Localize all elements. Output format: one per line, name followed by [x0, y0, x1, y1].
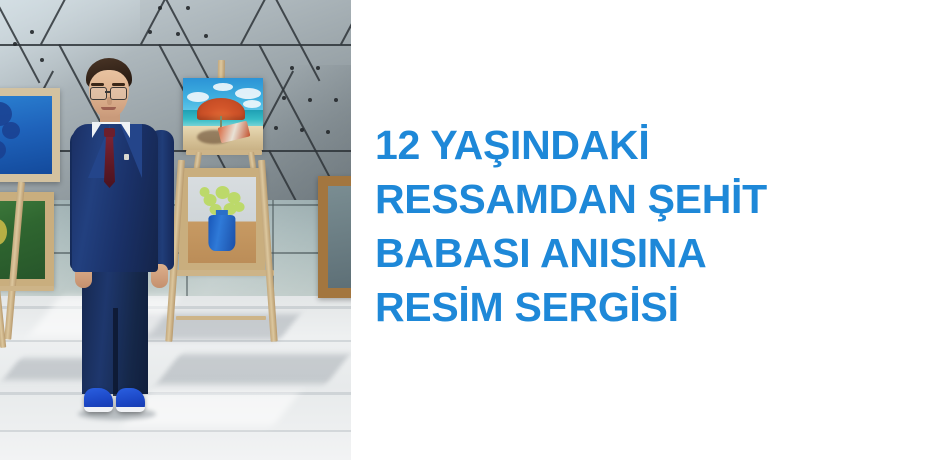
easel-left-tray: [0, 286, 54, 291]
dome-rivet: [308, 98, 312, 102]
headline-line-2: RESSAMDAN ŞEHİT: [375, 172, 915, 226]
painting-canvas: [0, 96, 52, 174]
eyeglasses-bridge: [105, 91, 110, 93]
right-sneaker-sole: [116, 407, 145, 412]
suit-jacket: [72, 124, 158, 272]
dome-rivet: [13, 42, 17, 46]
dome-rivet: [40, 58, 44, 62]
dome-rivet: [204, 34, 208, 38]
right-edge-painting: [318, 176, 351, 298]
mouth: [101, 107, 116, 110]
dome-rivet: [30, 30, 34, 34]
painting-canvas: [0, 201, 45, 279]
dome-rivet: [300, 128, 304, 132]
painting-cloud: [235, 88, 261, 99]
headline-panel: 12 YAŞINDAKİ RESSAMDAN ŞEHİT BABASI ANIS…: [351, 0, 930, 460]
beach-umbrella-painting: [183, 78, 263, 150]
headline: 12 YAŞINDAKİ RESSAMDAN ŞEHİT BABASI ANIS…: [375, 118, 915, 334]
painting-vase: [208, 215, 235, 251]
dome-rivet: [274, 126, 278, 130]
flower-petal: [234, 202, 245, 212]
necktie-knot: [104, 128, 115, 137]
headline-line-3: BABASI ANISINA: [375, 226, 915, 280]
eyebrow-right: [112, 83, 125, 86]
eyeglasses-left-lens: [90, 87, 107, 100]
green-landscape-painting: [0, 192, 54, 288]
painting-canvas: [188, 177, 256, 263]
easel-center-crossbar: [176, 316, 266, 320]
painting-blossom: [2, 122, 20, 139]
eyebrow-left: [91, 83, 104, 86]
young-painter: [58, 58, 188, 460]
flower-petal: [200, 187, 210, 197]
shirt-collar-right: [120, 122, 130, 138]
dome-rivet: [186, 6, 190, 10]
left-sneaker-sole: [84, 407, 113, 412]
dome-rivet: [326, 130, 330, 134]
painting-cloud: [213, 83, 233, 91]
headline-line-1: 12 YAŞINDAKİ: [375, 118, 915, 172]
headline-line-4: RESİM SERGİSİ: [375, 280, 915, 334]
necktie: [104, 136, 115, 188]
painting-cloud: [243, 100, 261, 108]
dome-rivet: [334, 98, 338, 102]
blue-abstract-painting: [0, 88, 60, 182]
dome-seam: [340, 0, 351, 45]
eyeglasses-right-lens: [110, 87, 127, 100]
news-photo: [0, 0, 351, 460]
dome-rivet: [176, 32, 180, 36]
news-card: 12 YAŞINDAKİ RESSAMDAN ŞEHİT BABASI ANIS…: [0, 0, 930, 460]
shirt-collar-left: [92, 122, 102, 138]
painting-background: [0, 201, 45, 279]
blue-vase-flowers-painting: [179, 168, 265, 272]
dome-rivet: [158, 6, 162, 10]
dome-seam: [240, 0, 312, 45]
trouser-crease: [113, 308, 118, 396]
dome-rivet: [148, 30, 152, 34]
dome-rivet: [316, 66, 320, 70]
dome-rivet: [282, 96, 286, 100]
dome-seam: [140, 0, 212, 45]
dome-rivet: [290, 66, 294, 70]
painting-background: [328, 186, 351, 288]
lapel-pin: [124, 154, 129, 160]
painting-canvas: [328, 186, 351, 288]
